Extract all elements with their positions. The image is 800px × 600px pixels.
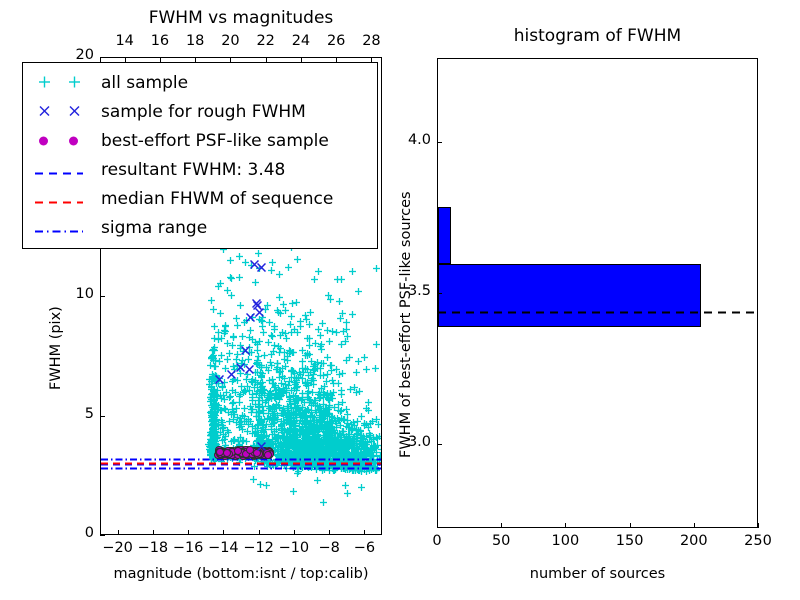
scatter-point-plus bbox=[289, 292, 296, 299]
scatter-point-plus bbox=[231, 403, 238, 410]
dashdot-line-icon bbox=[35, 219, 83, 238]
legend-item-5[interactable]: sigma range bbox=[23, 215, 377, 241]
axis-tick-label: 5 bbox=[52, 406, 94, 422]
scatter-point-plus bbox=[324, 346, 331, 353]
scatter-point-plus bbox=[373, 426, 380, 433]
scatter-point-plus bbox=[373, 333, 380, 340]
scatter-point-plus bbox=[346, 346, 353, 353]
scatter-point-plus bbox=[212, 421, 219, 428]
scatter-point-plus bbox=[269, 408, 276, 415]
legend-marker bbox=[23, 70, 101, 96]
scatter-point-plus bbox=[229, 334, 236, 341]
scatter-point-plus bbox=[304, 344, 311, 351]
plus-icon bbox=[39, 75, 50, 92]
scatter-point-plus bbox=[314, 469, 321, 476]
histogram-bar bbox=[438, 207, 451, 264]
scatter-point-plus bbox=[339, 302, 346, 309]
scatter-point-plus bbox=[218, 344, 225, 351]
scatter-point-plus bbox=[358, 476, 365, 483]
scatter-point-plus bbox=[339, 362, 346, 369]
scatter-point-plus bbox=[235, 430, 242, 437]
scatter-point-plus bbox=[286, 339, 293, 346]
scatter-point-plus bbox=[285, 374, 292, 381]
scatter-point-plus bbox=[290, 480, 297, 487]
legend-item-label: best-effort PSF-like sample bbox=[101, 131, 329, 151]
axis-tick-label: −6 bbox=[339, 540, 389, 556]
scatter-point-plus bbox=[257, 361, 264, 368]
axis-tick bbox=[100, 416, 105, 417]
scatter-point-plus bbox=[299, 357, 306, 364]
axis-tick-label: 20 bbox=[52, 47, 94, 63]
histogram-x-axis-label: number of sources bbox=[437, 566, 758, 582]
scatter-point-plus bbox=[260, 413, 267, 420]
axis-tick bbox=[188, 530, 189, 535]
scatter-point-plus bbox=[338, 268, 345, 275]
axis-tick bbox=[437, 523, 438, 528]
scatter-point-plus bbox=[285, 256, 292, 263]
scatter-point-plus bbox=[349, 260, 356, 267]
histogram-y-axis-label: FWHM of best-effort PSF-like sources bbox=[398, 191, 414, 458]
scatter-x-axis-label: magnitude (bottom:isnt / top:calib) bbox=[100, 566, 382, 582]
histogram-bar bbox=[438, 264, 701, 327]
scatter-point-plus bbox=[355, 280, 362, 287]
scatter-point-plus bbox=[344, 482, 351, 489]
legend-marker bbox=[23, 99, 101, 125]
plus-icon bbox=[69, 75, 80, 92]
scatter-point-plus bbox=[293, 369, 300, 376]
axis-tick bbox=[364, 530, 365, 535]
legend-item-1[interactable]: sample for rough FWHM bbox=[23, 99, 377, 125]
scatter-point-plus bbox=[310, 355, 317, 362]
scatter-point-plus bbox=[338, 399, 345, 406]
scatter-point-plus bbox=[320, 491, 327, 498]
scatter-point-plus bbox=[328, 384, 335, 391]
scatter-point-cross bbox=[236, 357, 245, 366]
scatter-point-plus bbox=[338, 407, 345, 414]
legend-item-label: resultant FWHM: 3.48 bbox=[101, 160, 285, 180]
dashed-line-icon bbox=[35, 190, 83, 209]
axis-tick-label: 100 bbox=[540, 533, 590, 549]
cross-icon bbox=[39, 105, 50, 120]
scatter-point-plus bbox=[208, 383, 215, 390]
scatter-point-plus bbox=[306, 391, 313, 398]
scatter-point-plus bbox=[217, 272, 224, 279]
scatter-point-plus bbox=[367, 437, 374, 444]
scatter-point-plus bbox=[329, 409, 336, 416]
scatter-point-plus bbox=[338, 379, 345, 386]
scatter-point-plus bbox=[212, 436, 219, 443]
axis-tick-label: 0 bbox=[52, 525, 94, 541]
axis-tick-label: 10 bbox=[52, 286, 94, 302]
axis-tick-label: 28 bbox=[346, 33, 396, 49]
scatter-point-plus bbox=[317, 406, 324, 413]
scatter-point-plus bbox=[302, 304, 309, 311]
axis-tick bbox=[694, 523, 695, 528]
axis-tick-label: 200 bbox=[669, 533, 719, 549]
axis-tick-label: 250 bbox=[733, 533, 783, 549]
legend-marker bbox=[23, 215, 101, 241]
histogram-title: histogram of FWHM bbox=[437, 26, 758, 46]
scatter-point-plus bbox=[329, 432, 336, 439]
scatter-point-plus bbox=[264, 294, 271, 301]
circle-icon bbox=[39, 137, 48, 146]
legend-marker bbox=[23, 157, 101, 183]
legend-item-0[interactable]: all sample bbox=[23, 70, 377, 96]
scatter-point-plus bbox=[361, 346, 368, 353]
scatter-point-plus bbox=[266, 382, 273, 389]
scatter-point-plus bbox=[271, 318, 278, 325]
axis-tick-label: 0 bbox=[412, 533, 462, 549]
scatter-point-plus bbox=[211, 315, 218, 322]
scatter-point-plus bbox=[217, 302, 224, 309]
scatter-point-plus bbox=[210, 412, 217, 419]
scatter-point-plus bbox=[306, 334, 313, 341]
scatter-point-cross bbox=[241, 340, 250, 349]
axis-tick bbox=[294, 530, 295, 535]
scatter-point-plus bbox=[303, 411, 310, 418]
histogram-plot-area bbox=[437, 58, 758, 528]
scatter-point-plus bbox=[327, 418, 334, 425]
scatter-point-plus bbox=[224, 279, 231, 286]
histogram-bars-layer bbox=[438, 59, 757, 527]
scatter-point-plus bbox=[249, 398, 256, 405]
scatter-point-plus bbox=[221, 319, 228, 326]
axis-tick bbox=[437, 293, 442, 294]
scatter-point-plus bbox=[269, 251, 276, 258]
scatter-point-plus bbox=[349, 303, 356, 310]
scatter-point-plus bbox=[365, 416, 372, 423]
scatter-point-plus bbox=[208, 289, 215, 296]
axis-tick bbox=[758, 523, 759, 528]
axis-tick bbox=[100, 57, 105, 58]
scatter-plot-title: FWHM vs magnitudes bbox=[100, 8, 382, 28]
scatter-point-plus bbox=[284, 419, 291, 426]
scatter-point-plus bbox=[318, 352, 325, 359]
axis-tick bbox=[565, 523, 566, 528]
scatter-point-plus bbox=[219, 411, 226, 418]
legend-item-label: sample for rough FWHM bbox=[101, 102, 306, 122]
scatter-point-plus bbox=[212, 349, 219, 356]
legend-item-label: sigma range bbox=[101, 218, 207, 238]
scatter-point-plus bbox=[372, 357, 379, 364]
axis-tick-label: 50 bbox=[476, 533, 526, 549]
scatter-point-plus bbox=[329, 369, 336, 376]
scatter-point-plus bbox=[295, 436, 302, 443]
figure-canvas: FWHM vs magnitudes 1416182022242628 −20−… bbox=[0, 0, 800, 600]
scatter-point-plus bbox=[305, 364, 312, 371]
axis-tick bbox=[100, 296, 105, 297]
scatter-point-plus bbox=[350, 411, 357, 418]
axis-tick bbox=[153, 530, 154, 535]
axis-tick bbox=[329, 530, 330, 535]
scatter-point-plus bbox=[353, 432, 360, 439]
scatter-point-plus bbox=[327, 288, 334, 295]
axis-tick-label: 4.0 bbox=[389, 132, 431, 148]
axis-tick bbox=[437, 444, 442, 445]
legend-item-4[interactable]: median FHWM of sequence bbox=[23, 186, 377, 212]
axis-tick bbox=[259, 530, 260, 535]
scatter-point-psf bbox=[264, 451, 272, 459]
scatter-point-cross bbox=[257, 257, 266, 266]
scatter-point-plus bbox=[222, 434, 229, 441]
scatter-point-plus bbox=[357, 419, 364, 426]
scatter-y-axis-label: FWHM (pix) bbox=[48, 306, 64, 390]
scatter-point-plus bbox=[228, 267, 235, 274]
scatter-point-plus bbox=[315, 260, 322, 267]
scatter-point-plus bbox=[233, 307, 240, 314]
scatter-point-plus bbox=[249, 389, 256, 396]
legend-marker bbox=[23, 186, 101, 212]
scatter-point-plus bbox=[373, 408, 380, 415]
scatter-point-cross bbox=[245, 359, 254, 368]
scatter-point-plus bbox=[351, 376, 358, 383]
scatter-point-plus bbox=[279, 321, 286, 328]
scatter-point-cross bbox=[227, 364, 236, 373]
scatter-point-plus bbox=[273, 358, 280, 365]
scatter-point-plus bbox=[328, 354, 335, 361]
scatter-point-plus bbox=[355, 350, 362, 357]
scatter-point-plus bbox=[365, 391, 372, 398]
scatter-point-plus bbox=[309, 432, 316, 439]
circle-icon bbox=[69, 137, 78, 146]
scatter-point-plus bbox=[294, 394, 301, 401]
scatter-point-plus bbox=[343, 318, 350, 325]
scatter-point-plus bbox=[237, 294, 244, 301]
scatter-point-cross bbox=[246, 307, 255, 316]
scatter-point-plus bbox=[276, 286, 283, 293]
scatter-point-plus bbox=[319, 312, 326, 319]
axis-tick bbox=[118, 530, 119, 535]
scatter-point-plus bbox=[254, 333, 261, 340]
scatter-point-plus bbox=[252, 271, 259, 278]
legend-item-label: all sample bbox=[101, 73, 188, 93]
scatter-point-plus bbox=[287, 313, 294, 320]
axis-tick bbox=[630, 523, 631, 528]
histogram-reference-line bbox=[438, 299, 757, 302]
axis-tick bbox=[100, 535, 105, 536]
scatter-point-plus bbox=[265, 359, 272, 366]
scatter-point-plus bbox=[336, 290, 343, 297]
scatter-point-cross bbox=[252, 293, 261, 302]
dashed-line-icon bbox=[35, 161, 83, 180]
scatter-point-plus bbox=[238, 415, 245, 422]
scatter-point-plus bbox=[236, 266, 243, 273]
scatter-point-plus bbox=[342, 474, 349, 481]
cross-icon bbox=[69, 105, 80, 120]
scatter-point-plus bbox=[373, 257, 380, 264]
scatter-point-plus bbox=[318, 333, 325, 340]
legend-item-3[interactable]: resultant FWHM: 3.48 bbox=[23, 157, 377, 183]
axis-tick bbox=[437, 142, 442, 143]
scatter-point-plus bbox=[211, 336, 218, 343]
scatter-point-plus bbox=[286, 390, 293, 397]
scatter-point-psf bbox=[223, 449, 231, 457]
scatter-point-cross bbox=[215, 369, 224, 378]
scatter-point-cross bbox=[257, 436, 266, 445]
legend: all samplesample for rough FWHMbest-effo… bbox=[22, 62, 378, 249]
scatter-point-plus bbox=[277, 337, 284, 344]
axis-tick bbox=[223, 530, 224, 535]
scatter-point-plus bbox=[268, 343, 275, 350]
scatter-point-plus bbox=[227, 385, 234, 392]
scatter-point-plus bbox=[296, 423, 303, 430]
axis-tick-label: 150 bbox=[605, 533, 655, 549]
scatter-point-plus bbox=[242, 251, 249, 258]
scatter-point-plus bbox=[276, 263, 283, 270]
scatter-point-plus bbox=[336, 422, 343, 429]
scatter-point-plus bbox=[346, 433, 353, 440]
legend-item-label: median FHWM of sequence bbox=[101, 189, 333, 209]
scatter-point-plus bbox=[227, 249, 234, 256]
scatter-point-plus bbox=[263, 474, 270, 481]
legend-marker bbox=[23, 128, 101, 154]
scatter-point-plus bbox=[208, 394, 215, 401]
legend-item-2[interactable]: best-effort PSF-like sample bbox=[23, 128, 377, 154]
axis-tick bbox=[501, 523, 502, 528]
scatter-point-plus bbox=[240, 381, 247, 388]
